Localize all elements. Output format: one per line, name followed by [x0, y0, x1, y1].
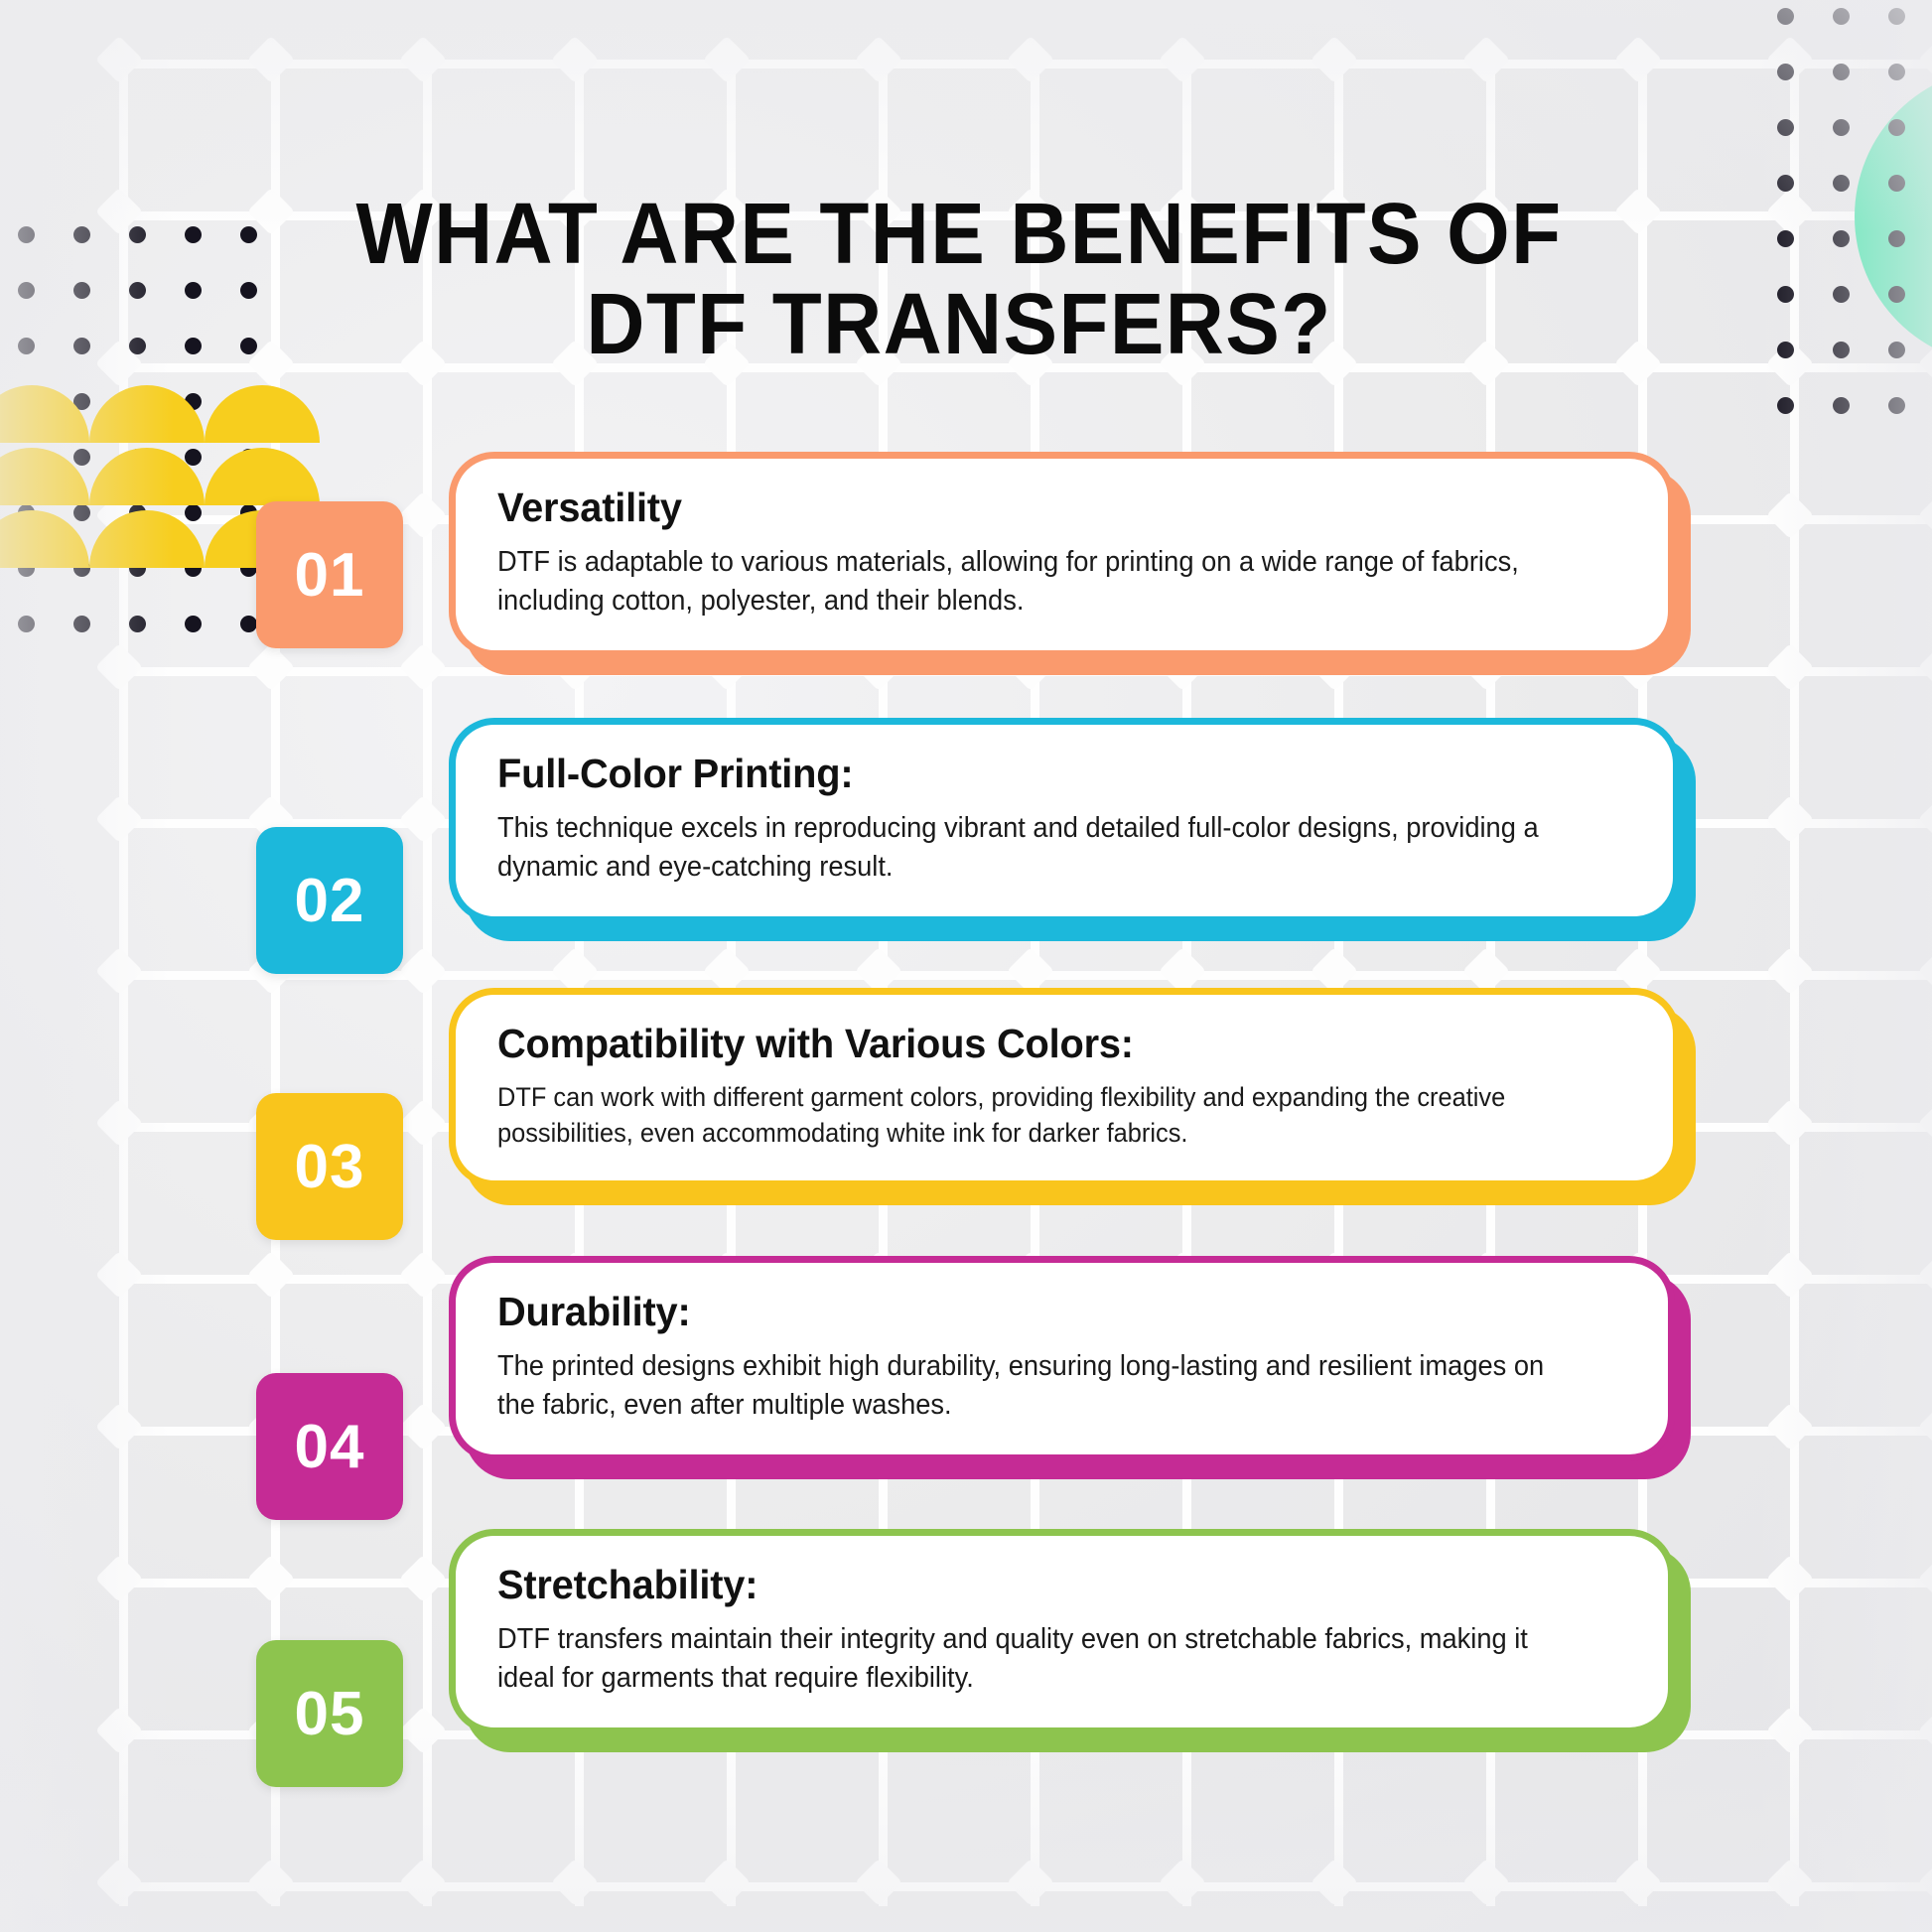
decorative-dot — [1777, 230, 1794, 247]
decorative-dot — [240, 282, 257, 299]
decorative-dot — [1888, 286, 1905, 303]
grid-node-diamond — [551, 36, 599, 83]
decorative-dot — [73, 282, 90, 299]
half-disc-shape — [205, 448, 320, 505]
decorative-dot — [1833, 175, 1850, 192]
benefit-body-text: DTF transfers maintain their integrity a… — [497, 1620, 1559, 1698]
decorative-dot — [1777, 119, 1794, 136]
decorative-dot — [1888, 175, 1905, 192]
benefit-number-badge: 02 — [256, 827, 403, 974]
benefit-heading: Compatibility with Various Colors: — [497, 1021, 1597, 1067]
grid-node-diamond — [1918, 795, 1932, 843]
grid-node-diamond — [551, 1859, 599, 1906]
grid-node-diamond — [247, 1555, 295, 1602]
benefit-number-badge: 01 — [256, 501, 403, 648]
decorative-dot — [1833, 64, 1850, 80]
decorative-dot — [73, 226, 90, 243]
decorative-dot — [18, 226, 35, 243]
decorative-dot — [1833, 119, 1850, 136]
benefit-number-badge: 05 — [256, 1640, 403, 1787]
benefit-card-wrapper: Full-Color Printing:This technique excel… — [449, 718, 1680, 923]
grid-node-diamond — [1918, 491, 1932, 539]
benefit-body-text: DTF can work with different garment colo… — [497, 1079, 1563, 1151]
decorative-dot — [240, 616, 257, 632]
grid-node-diamond — [399, 643, 447, 691]
grid-node-diamond — [1918, 1859, 1932, 1906]
grid-node-diamond — [399, 1099, 447, 1147]
decorative-dot — [73, 338, 90, 354]
grid-node-diamond — [1766, 1859, 1814, 1906]
grid-node-diamond — [1918, 36, 1932, 83]
grid-node-diamond — [95, 1859, 143, 1906]
grid-node-diamond — [1614, 36, 1662, 83]
grid-node-diamond — [1918, 947, 1932, 995]
grid-node-diamond — [1918, 1707, 1932, 1754]
decorative-dot — [1888, 64, 1905, 80]
grid-node-diamond — [1311, 36, 1358, 83]
benefit-card-wrapper: VersatilityDTF is adaptable to various m… — [449, 452, 1675, 657]
decorative-dot — [185, 282, 202, 299]
page-title: WHAT ARE THE BENEFITS OF DTF TRANSFERS? — [278, 189, 1640, 370]
decorative-dot — [1777, 175, 1794, 192]
decorative-dot — [1777, 286, 1794, 303]
grid-node-diamond — [1918, 1251, 1932, 1299]
grid-node-diamond — [247, 1859, 295, 1906]
grid-node-diamond — [1007, 36, 1054, 83]
grid-node-diamond — [399, 1707, 447, 1754]
decorative-dot — [129, 616, 146, 632]
grid-node-diamond — [1462, 1859, 1510, 1906]
grid-node-diamond — [1766, 1251, 1814, 1299]
decorative-dot — [18, 338, 35, 354]
benefit-number-label: 02 — [295, 866, 365, 936]
decorative-dot — [129, 226, 146, 243]
decorative-dot — [18, 282, 35, 299]
benefit-number-label: 03 — [295, 1132, 365, 1202]
decorative-dot — [1833, 397, 1850, 414]
grid-node-diamond — [247, 643, 295, 691]
decorative-dot — [1888, 119, 1905, 136]
grid-node-diamond — [95, 795, 143, 843]
grid-node-diamond — [399, 1859, 447, 1906]
grid-node-diamond — [1766, 947, 1814, 995]
decorative-dot — [129, 338, 146, 354]
grid-node-diamond — [95, 947, 143, 995]
decorative-dot — [73, 616, 90, 632]
grid-node-diamond — [1766, 643, 1814, 691]
grid-node-diamond — [1766, 1555, 1814, 1602]
decorative-dot — [185, 449, 202, 466]
benefit-body-text: The printed designs exhibit high durabil… — [497, 1347, 1559, 1425]
grid-node-diamond — [1311, 1859, 1358, 1906]
benefit-card-wrapper: Compatibility with Various Colors:DTF ca… — [449, 988, 1680, 1187]
grid-node-diamond — [247, 36, 295, 83]
grid-node-diamond — [1918, 1555, 1932, 1602]
grid-node-diamond — [1766, 1403, 1814, 1450]
grid-node-diamond — [703, 36, 751, 83]
decorative-dot — [1833, 230, 1850, 247]
grid-node-diamond — [95, 1403, 143, 1450]
grid-node-diamond — [95, 1555, 143, 1602]
decorative-dot — [185, 226, 202, 243]
benefit-card[interactable]: Full-Color Printing:This technique excel… — [449, 718, 1680, 923]
decorative-dot — [129, 282, 146, 299]
grid-node-diamond — [1766, 491, 1814, 539]
grid-node-diamond — [399, 947, 447, 995]
grid-node-diamond — [1462, 36, 1510, 83]
grid-node-diamond — [703, 1859, 751, 1906]
grid-node-diamond — [95, 1099, 143, 1147]
benefit-number-badge: 03 — [256, 1093, 403, 1240]
grid-node-diamond — [1614, 1859, 1662, 1906]
grid-node-diamond — [399, 1403, 447, 1450]
grid-node-diamond — [399, 1555, 447, 1602]
grid-node-diamond — [95, 36, 143, 83]
infographic-poster: WHAT ARE THE BENEFITS OF DTF TRANSFERS? … — [0, 0, 1932, 1932]
grid-node-diamond — [1766, 1707, 1814, 1754]
decorative-dot — [1888, 230, 1905, 247]
grid-node-diamond — [399, 491, 447, 539]
grid-node-diamond — [95, 1707, 143, 1754]
grid-node-diamond — [399, 36, 447, 83]
decorative-dot — [1777, 64, 1794, 80]
decorative-dot — [73, 449, 90, 466]
benefit-card-wrapper: Durability:The printed designs exhibit h… — [449, 1256, 1675, 1461]
decorative-dot — [185, 504, 202, 521]
decorative-dot — [1833, 342, 1850, 358]
decorative-dot — [1888, 8, 1905, 25]
grid-node-diamond — [399, 795, 447, 843]
grid-node-diamond — [247, 1251, 295, 1299]
grid-node-diamond — [855, 36, 902, 83]
decorative-dot — [240, 338, 257, 354]
benefit-body-text: This technique excels in reproducing vib… — [497, 809, 1563, 887]
decorative-dot — [1833, 286, 1850, 303]
benefit-heading: Versatility — [497, 484, 1592, 531]
decorative-dot — [1777, 397, 1794, 414]
decorative-dot — [18, 616, 35, 632]
grid-node-diamond — [1766, 795, 1814, 843]
benefit-card-wrapper: Stretchability:DTF transfers maintain th… — [449, 1529, 1675, 1734]
benefit-card[interactable]: Durability:The printed designs exhibit h… — [449, 1256, 1675, 1461]
grid-node-diamond — [1766, 188, 1814, 235]
decorative-dot — [1888, 342, 1905, 358]
grid-node-diamond — [1007, 1859, 1054, 1906]
grid-node-diamond — [855, 1859, 902, 1906]
grid-node-diamond — [1918, 1403, 1932, 1450]
grid-node-diamond — [1766, 1099, 1814, 1147]
decorative-dot — [1888, 397, 1905, 414]
grid-node-diamond — [95, 1251, 143, 1299]
benefit-body-text: DTF is adaptable to various materials, a… — [497, 543, 1559, 621]
mint-circle-decoration — [1855, 68, 1932, 365]
grid-node-diamond — [1159, 36, 1206, 83]
decorative-dot — [185, 616, 202, 632]
benefit-heading: Stretchability: — [497, 1562, 1592, 1608]
benefit-heading: Durability: — [497, 1289, 1592, 1335]
decorative-dot — [240, 226, 257, 243]
grid-node-diamond — [1918, 340, 1932, 387]
decorative-dot — [1777, 342, 1794, 358]
decorative-dot — [185, 338, 202, 354]
half-disc-shape — [205, 385, 320, 443]
benefit-number-badge: 04 — [256, 1373, 403, 1520]
grid-node-diamond — [95, 643, 143, 691]
grid-node-diamond — [1159, 1859, 1206, 1906]
benefit-card[interactable]: Compatibility with Various Colors:DTF ca… — [449, 988, 1680, 1187]
benefit-number-label: 04 — [295, 1412, 365, 1482]
grid-node-diamond — [1918, 643, 1932, 691]
grid-node-diamond — [1918, 1099, 1932, 1147]
decorative-dot — [1777, 8, 1794, 25]
benefit-heading: Full-Color Printing: — [497, 751, 1597, 797]
benefit-card[interactable]: VersatilityDTF is adaptable to various m… — [449, 452, 1675, 657]
grid-node-diamond — [399, 1251, 447, 1299]
benefit-number-label: 05 — [295, 1679, 365, 1749]
decorative-dot — [73, 504, 90, 521]
benefit-card[interactable]: Stretchability:DTF transfers maintain th… — [449, 1529, 1675, 1734]
decorative-dot — [1833, 8, 1850, 25]
benefit-number-label: 01 — [295, 540, 365, 611]
